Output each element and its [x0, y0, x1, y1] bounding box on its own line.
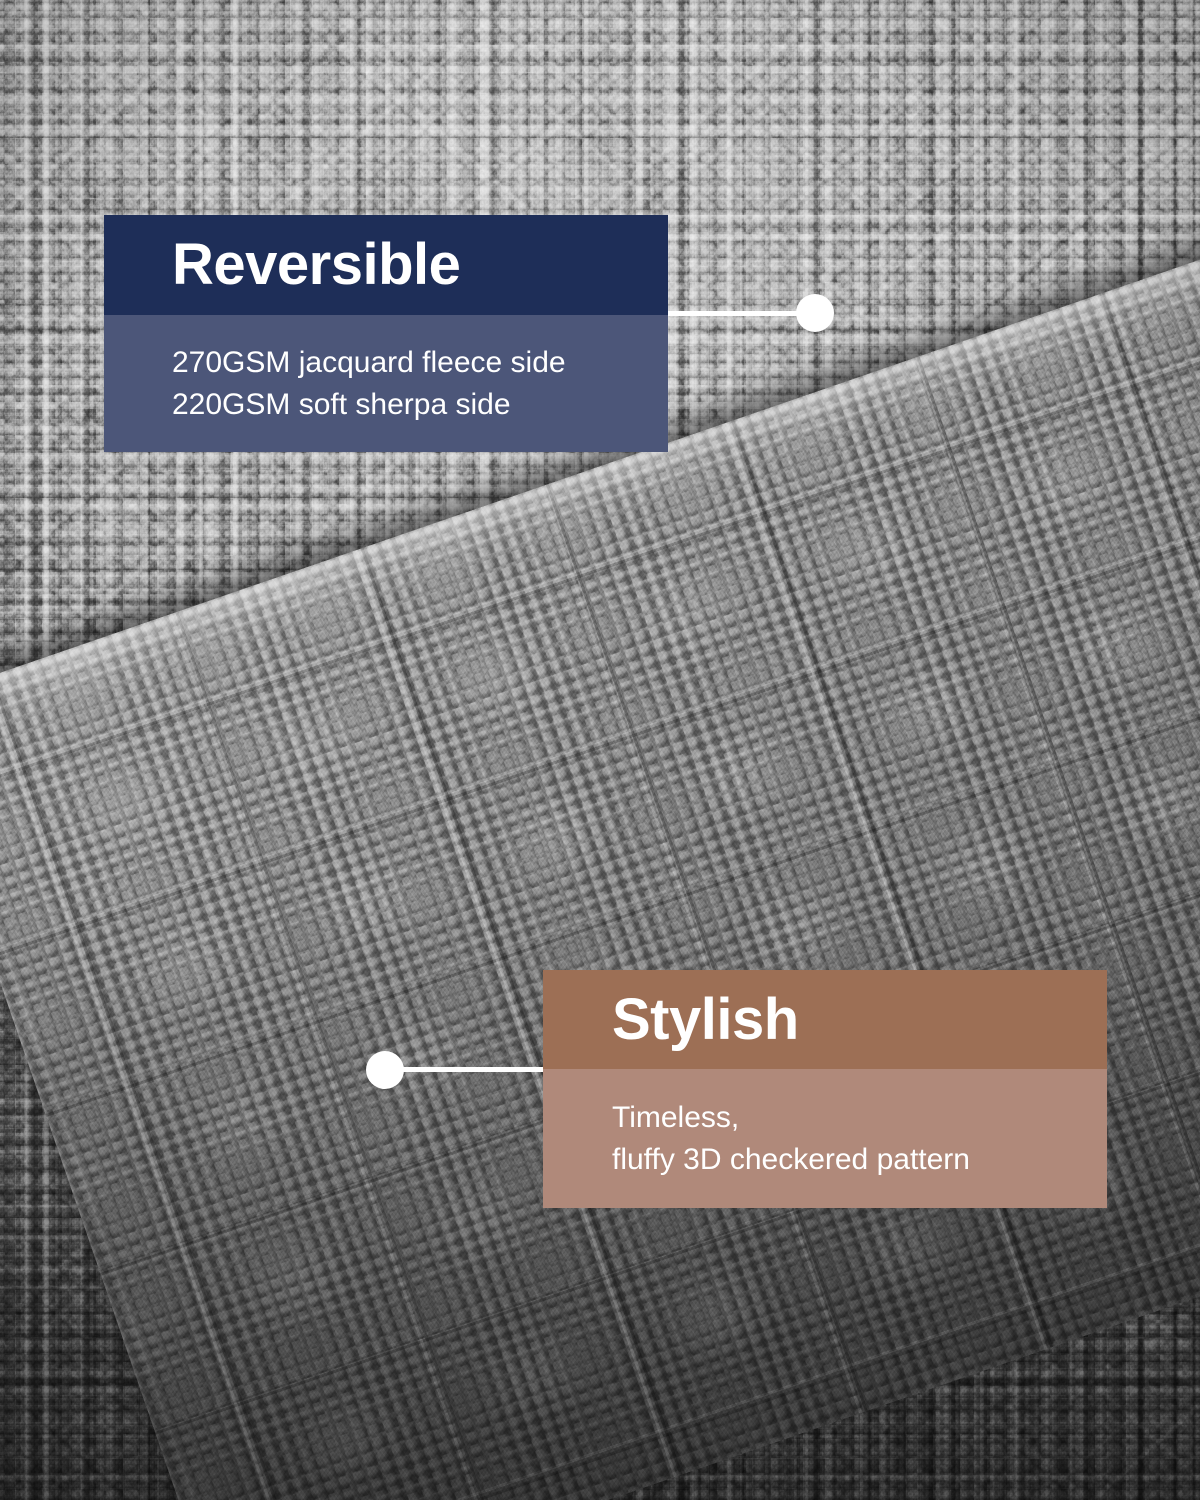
callout-reversible-title: Reversible [104, 215, 668, 315]
callout-reversible-body-line-2: 220GSM soft sherpa side [172, 384, 668, 426]
leader-dot-stylish [366, 1051, 404, 1089]
leader-line-reversible [668, 311, 798, 316]
callout-stylish-body-line-1: Timeless, [612, 1097, 1107, 1139]
leader-dot-reversible [796, 294, 834, 332]
callout-reversible-body: 270GSM jacquard fleece side 220GSM soft … [104, 315, 668, 452]
product-infographic: Reversible 270GSM jacquard fleece side 2… [0, 0, 1200, 1500]
callout-reversible: Reversible 270GSM jacquard fleece side 2… [104, 215, 668, 452]
leader-line-stylish [400, 1067, 545, 1072]
callout-stylish-body-line-2: fluffy 3D checkered pattern [612, 1139, 1107, 1181]
callout-stylish-body: Timeless, fluffy 3D checkered pattern [543, 1069, 1107, 1208]
callout-stylish: Stylish Timeless, fluffy 3D checkered pa… [543, 970, 1107, 1208]
callout-stylish-title: Stylish [543, 970, 1107, 1069]
callout-reversible-body-line-1: 270GSM jacquard fleece side [172, 342, 668, 384]
